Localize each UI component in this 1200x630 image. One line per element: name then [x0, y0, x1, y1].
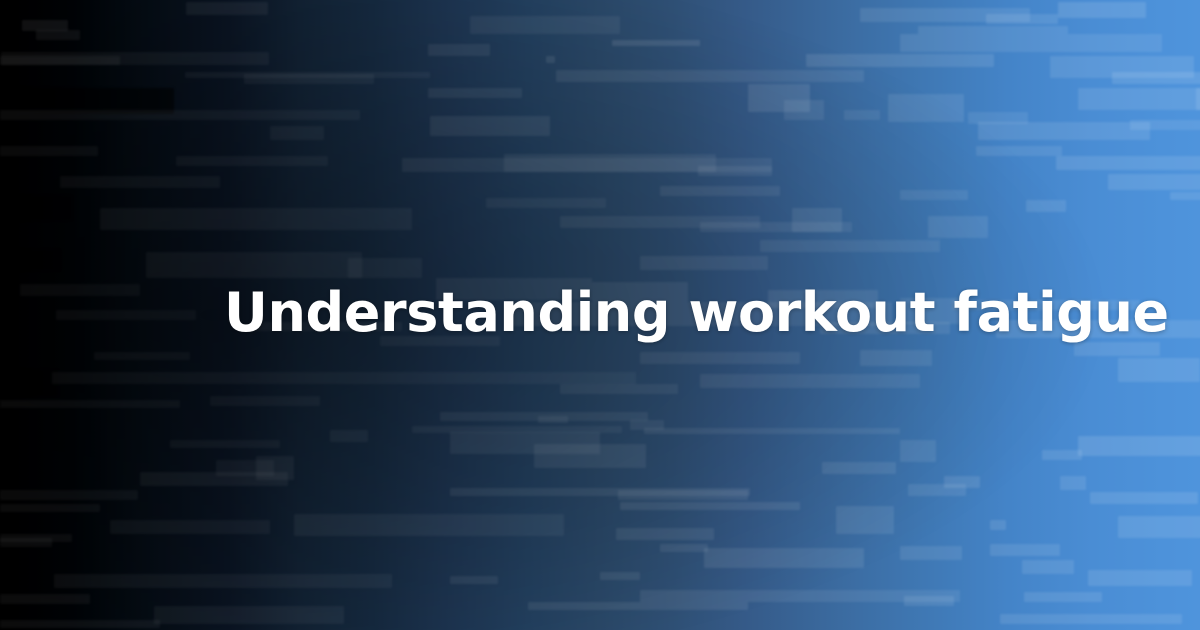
title-block: Understanding workout fatigue [0, 0, 1200, 630]
og-card: Understanding workout fatigue [0, 0, 1200, 630]
page-title: Understanding workout fatigue [224, 282, 1104, 344]
